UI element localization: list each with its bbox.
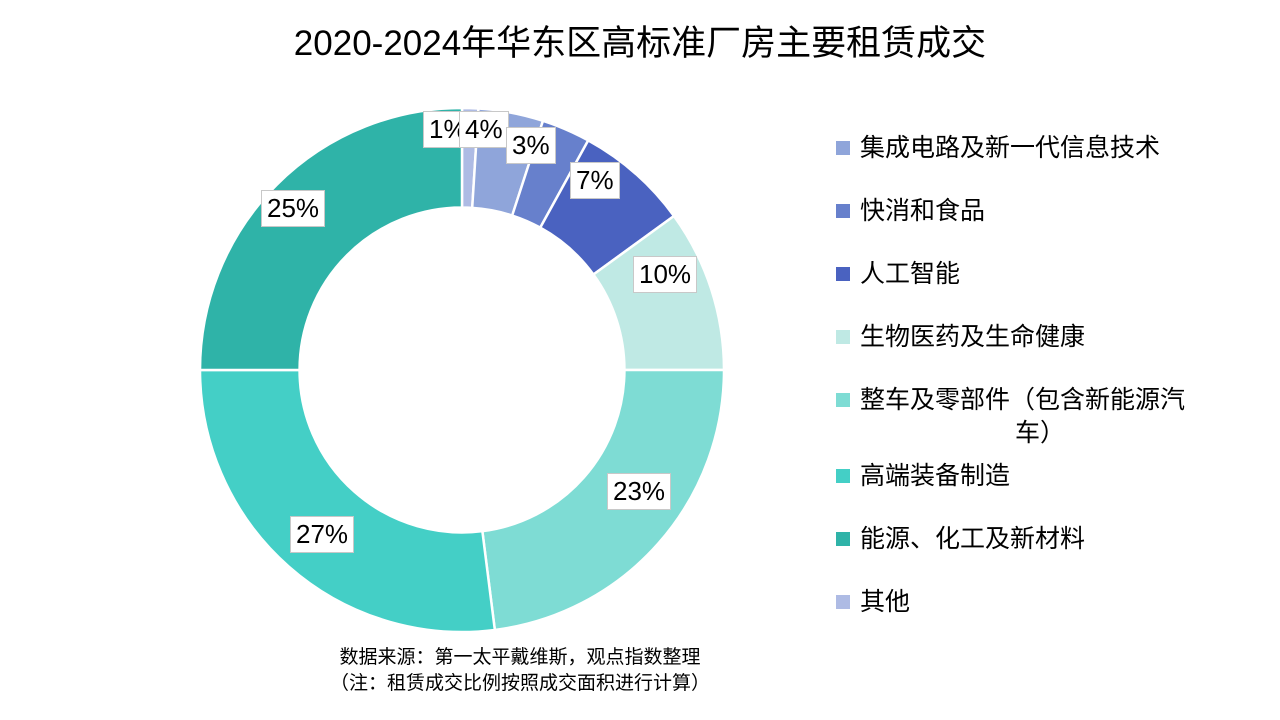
data-label: 23% xyxy=(607,473,671,510)
data-label: 4% xyxy=(459,111,509,148)
legend-swatch-icon xyxy=(836,532,850,546)
data-label: 3% xyxy=(506,127,556,164)
legend-item-label: 快消和食品 xyxy=(860,195,1236,228)
legend-swatch-icon xyxy=(836,330,850,344)
legend-item-label: 能源、化工及新材料 xyxy=(860,523,1236,556)
legend-item-label: 生物医药及生命健康 xyxy=(860,321,1236,354)
donut-slice[interactable] xyxy=(200,370,495,632)
legend-item-label: 人工智能 xyxy=(860,258,1236,291)
legend-swatch-icon xyxy=(836,141,850,155)
footnote-source: 数据来源：第一太平戴维斯，观点指数整理 xyxy=(170,645,870,671)
donut-chart xyxy=(187,95,737,645)
data-label: 10% xyxy=(633,256,697,293)
data-label: 27% xyxy=(290,516,354,553)
legend-swatch-icon xyxy=(836,204,850,218)
legend-item-label: 高端装备制造 xyxy=(860,460,1236,493)
legend-item-label: 其他 xyxy=(860,586,1236,619)
legend-swatch-icon xyxy=(836,267,850,281)
legend-item-label: 整车及零部件（包含新能源汽车） xyxy=(860,384,1220,450)
legend-swatch-icon xyxy=(836,595,850,609)
chart-page: 2020-2024年华东区高标准厂房主要租赁成交 1%4%3%7%10%23%2… xyxy=(0,0,1280,720)
legend-item-label: 集成电路及新一代信息技术 xyxy=(860,132,1236,165)
donut-slice[interactable] xyxy=(482,370,724,630)
legend-swatch-icon xyxy=(836,469,850,483)
data-label: 7% xyxy=(570,162,620,199)
footnote: 数据来源：第一太平戴维斯，观点指数整理 （注：租赁成交比例按照成交面积进行计算） xyxy=(170,645,870,697)
page-title: 2020-2024年华东区高标准厂房主要租赁成交 xyxy=(0,22,1280,66)
legend: 集成电路及新一代信息技术快消和食品人工智能生物医药及生命健康整车及零部件（包含新… xyxy=(836,120,1236,620)
donut-svg xyxy=(187,95,737,645)
donut-slice-group xyxy=(200,108,724,632)
footnote-note: （注：租赁成交比例按照成交面积进行计算） xyxy=(170,671,870,697)
legend-swatch-icon xyxy=(836,393,850,407)
data-label: 25% xyxy=(261,190,325,227)
